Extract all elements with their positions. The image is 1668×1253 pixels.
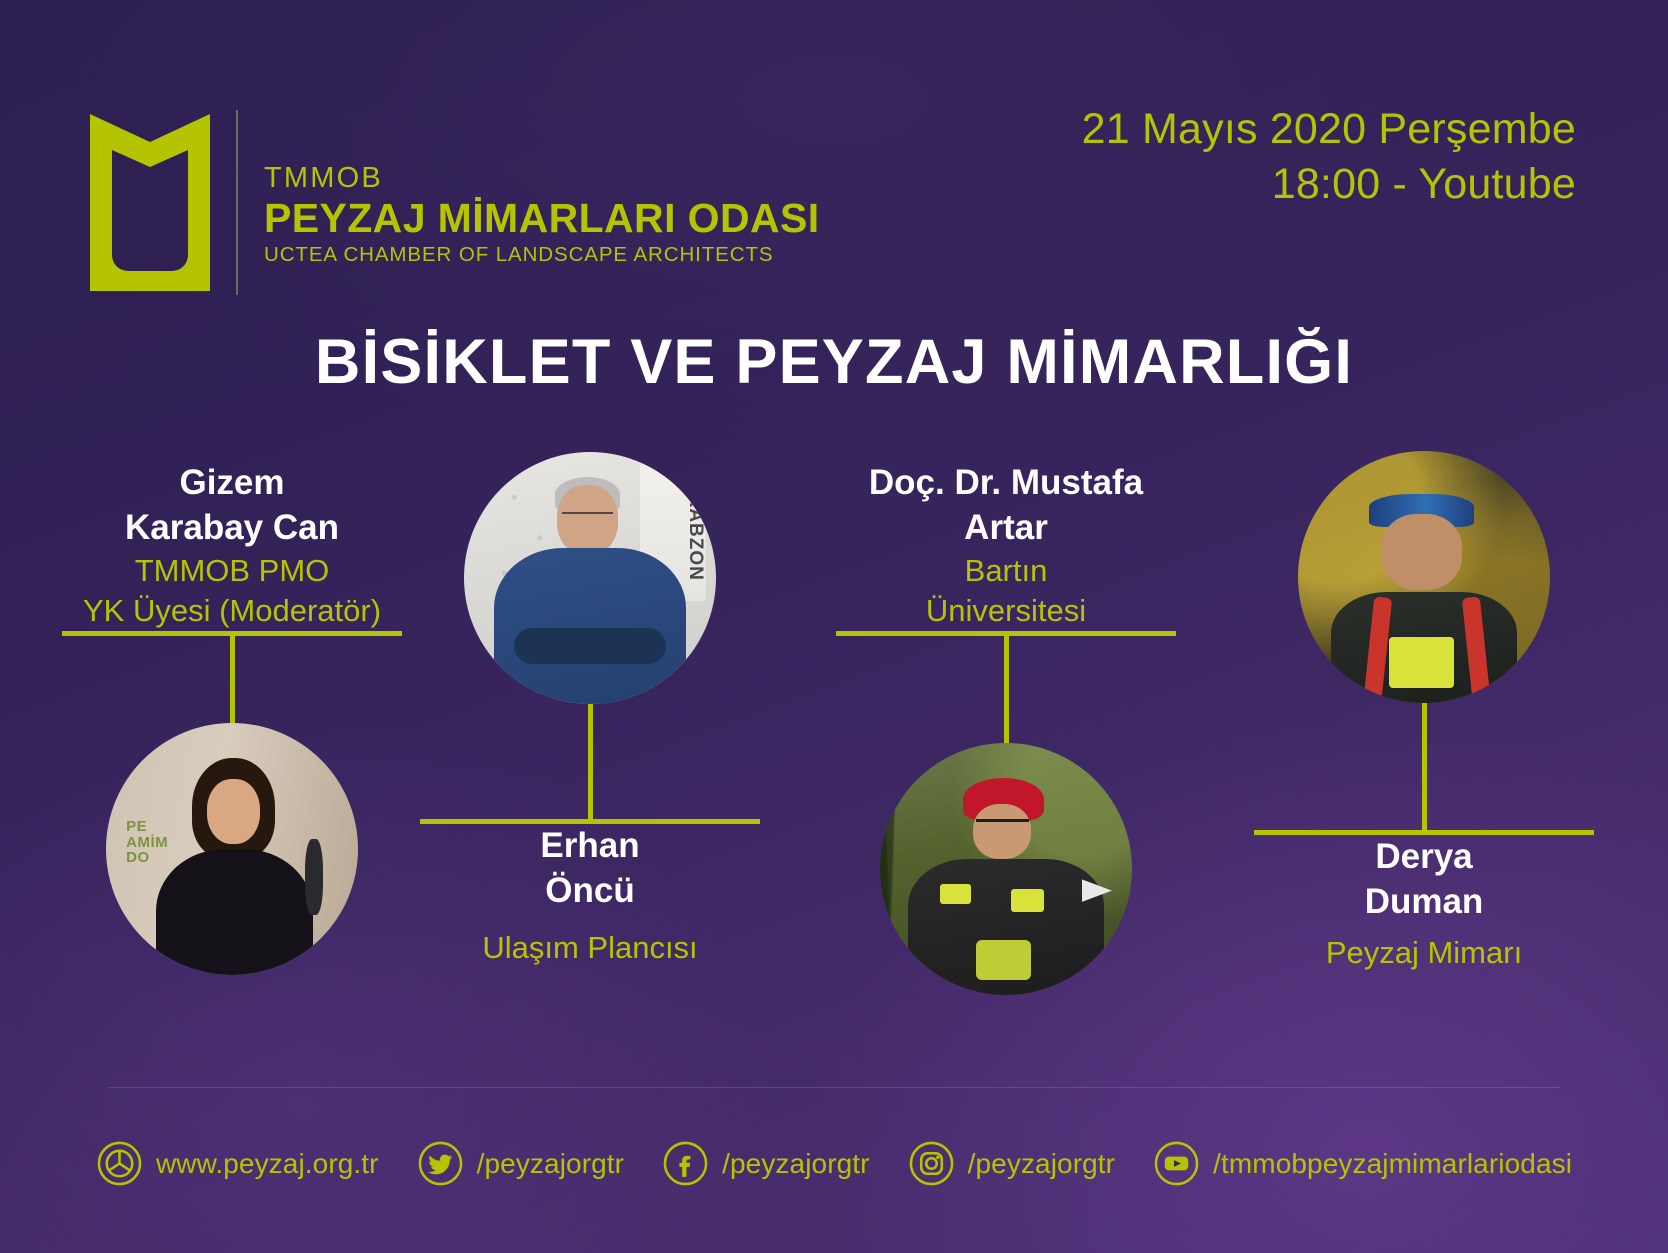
event-datetime-block: 21 Mayıs 2020 Perşembe 18:00 - Youtube [1082, 102, 1576, 212]
speaker-connector-mustafa [796, 631, 1216, 743]
speaker-connector-erhan [380, 704, 800, 824]
tmmob-landscape-architects-logo-icon [86, 110, 214, 295]
webinar-poster: TMMOB PEYZAJ MİMARLARI ODASI UCTEA CHAMB… [0, 0, 1668, 1253]
connector-stem [1004, 631, 1009, 743]
youtube-icon [1153, 1140, 1200, 1187]
speaker-name-line1: Erhan [380, 824, 800, 869]
avatar-erhan-oncu: TRABZON [464, 452, 716, 704]
speaker-name-line1: Doç. Dr. Mustafa [796, 461, 1216, 506]
speaker-connector-gizem [22, 631, 442, 723]
event-date: 21 Mayıs 2020 Perşembe [1082, 102, 1576, 157]
jersey-badge-1 [940, 884, 970, 904]
social-label-facebook: /peyzajorgtr [722, 1148, 870, 1180]
social-link-twitter[interactable]: /peyzajorgtr [417, 1140, 625, 1187]
connector-stem [588, 704, 593, 824]
social-link-instagram[interactable]: /peyzajorgtr [908, 1140, 1116, 1187]
poster-header: TMMOB PEYZAJ MİMARLARI ODASI UCTEA CHAMB… [0, 96, 1668, 306]
speaker-role-line1: TMMOB PMO [22, 551, 442, 591]
social-label-twitter: /peyzajorgtr [477, 1148, 625, 1180]
avatar-face [207, 779, 260, 845]
speakers-section: Gizem Karabay Can TMMOB PMO YK Üyesi (Mo… [0, 455, 1668, 1065]
speaker-role-line1: Peyzaj Mimarı [1214, 933, 1634, 973]
social-label-website: www.peyzaj.org.tr [156, 1148, 379, 1180]
speaker-info-gizem: Gizem Karabay Can TMMOB PMO YK Üyesi (Mo… [22, 461, 442, 631]
connector-stem [1422, 703, 1427, 835]
social-label-instagram: /peyzajorgtr [968, 1148, 1116, 1180]
logo-divider [236, 110, 238, 295]
jersey-badge-3 [976, 940, 1031, 980]
social-links-bar: www.peyzaj.org.tr /peyzajorgtr /peyzajor… [0, 1140, 1668, 1187]
speaker-name-line2: Artar [796, 506, 1216, 551]
instagram-icon [908, 1140, 955, 1187]
avatar-arms [514, 628, 665, 663]
speaker-info-erhan: Erhan Öncü Ulaşım Plancısı [380, 824, 800, 968]
speaker-info-derya: Derya Duman Peyzaj Mimarı [1214, 835, 1634, 973]
speaker-name-line2: Duman [1214, 880, 1634, 925]
social-link-facebook[interactable]: /peyzajorgtr [662, 1140, 870, 1187]
organization-logo-block: TMMOB PEYZAJ MİMARLARI ODASI UCTEA CHAMB… [86, 110, 820, 295]
speaker-card-derya-duman: Derya Duman Peyzaj Mimarı [1214, 451, 1634, 973]
twitter-icon [417, 1140, 464, 1187]
speaker-role-line2: YK Üyesi (Moderatör) [22, 591, 442, 631]
org-line-tmmob: TMMOB [264, 162, 820, 195]
social-link-website[interactable]: www.peyzaj.org.tr [96, 1140, 379, 1187]
speaker-info-mustafa: Doç. Dr. Mustafa Artar Bartın Üniversite… [796, 461, 1216, 631]
facebook-icon [662, 1140, 709, 1187]
avatar-mustafa-artar [880, 743, 1132, 995]
chest-pack [1389, 637, 1455, 687]
organization-name: TMMOB PEYZAJ MİMARLARI ODASI UCTEA CHAMB… [264, 110, 820, 295]
avatar-derya-duman [1298, 451, 1550, 703]
social-link-youtube[interactable]: /tmmobpeyzajmimarlariodasi [1153, 1140, 1572, 1187]
avatar-body [494, 548, 686, 704]
microphone-icon [305, 839, 323, 915]
avatar-gizem-karabay-can: PE AMİM DO [106, 723, 358, 975]
speaker-name-line2: Öncü [380, 869, 800, 914]
jersey-badge-2 [1011, 889, 1044, 912]
globe-icon [96, 1140, 143, 1187]
event-time-platform: 18:00 - Youtube [1082, 157, 1576, 212]
speaker-card-gizem-karabay-can: Gizem Karabay Can TMMOB PMO YK Üyesi (Mo… [22, 461, 442, 975]
page-title: BİSİKLET VE PEYZAJ MİMARLIĞI [0, 326, 1668, 398]
speaker-name-line2: Karabay Can [22, 506, 442, 551]
glasses-icon [976, 819, 1029, 835]
speaker-name-line1: Gizem [22, 461, 442, 506]
speaker-role-line1: Ulaşım Plancısı [380, 928, 800, 968]
speaker-card-erhan-oncu: TRABZON Erhan Öncü Ulaşım Plancısı [380, 452, 800, 968]
footer-divider [108, 1087, 1560, 1088]
speaker-card-mustafa-artar: Doç. Dr. Mustafa Artar Bartın Üniversite… [796, 461, 1216, 995]
social-label-youtube: /tmmobpeyzajmimarlariodasi [1213, 1148, 1572, 1180]
avatar-body [156, 849, 312, 975]
speaker-connector-derya [1214, 703, 1634, 835]
speaker-role-line1: Bartın [796, 551, 1216, 591]
org-line-chamber-tr: PEYZAJ MİMARLARI ODASI [264, 195, 820, 242]
org-line-chamber-en: UCTEA CHAMBER OF LANDSCAPE ARCHITECTS [264, 242, 820, 269]
speaker-name-line1: Derya [1214, 835, 1634, 880]
speaker-role-line2: Üniversitesi [796, 591, 1216, 631]
avatar-face [1381, 514, 1462, 590]
glasses-icon [562, 512, 612, 527]
connector-stem [230, 631, 235, 723]
